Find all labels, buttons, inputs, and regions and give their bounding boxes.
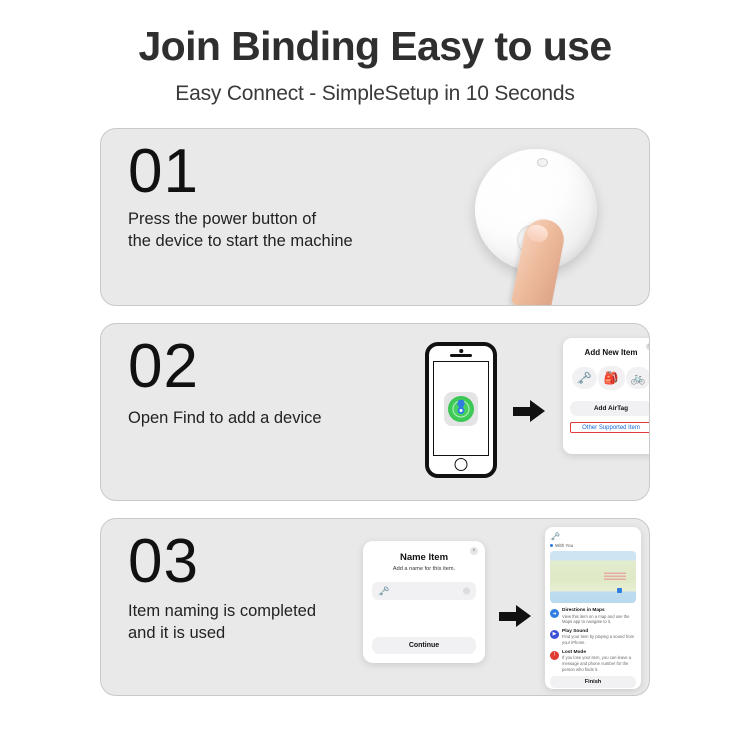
backpack-icon: 🎒 (598, 366, 625, 390)
clear-icon[interactable] (463, 588, 470, 595)
tracker-illustration (461, 137, 631, 305)
location-dot-icon (458, 407, 465, 414)
promo-page: Join Binding Easy to use Easy Connect - … (0, 0, 750, 750)
step-01-number: 01 (128, 139, 353, 204)
dialog-subtitle: Add a name for this item. (372, 566, 476, 572)
page-subtitle: Easy Connect - SimpleSetup in 10 Seconds (0, 82, 750, 106)
camera-icon (459, 349, 463, 353)
step-03-description: Item naming is completed and it is used (128, 600, 316, 645)
step-03-number: 03 (128, 529, 316, 594)
directions-icon: ➜ (550, 609, 559, 618)
item-detail-panel: 🗝️ With You ➜ Directions in Maps (545, 527, 641, 689)
list-item-title: Directions in Maps (562, 608, 636, 613)
map-pin-icon (617, 588, 622, 593)
add-airtag-button[interactable]: Add AirTag (570, 401, 650, 416)
speaker-icon (450, 354, 472, 357)
bicycle-icon: 🚲 (626, 367, 651, 389)
status-dot-icon (550, 544, 553, 547)
list-item-detail: View this item on a map and use the Maps… (562, 614, 636, 625)
list-item[interactable]: ! Lost Mode If you lose your item, you c… (550, 650, 636, 673)
lost-mode-icon: ! (550, 651, 559, 660)
step-card-01: 01 Press the power button of the device … (100, 128, 650, 306)
key-icon: 🗝️ (572, 367, 597, 389)
step-02-number: 02 (128, 334, 322, 399)
keyring-hole-icon (537, 158, 548, 167)
list-item-detail: Find your item by playing a sound from y… (562, 634, 636, 645)
step-03-illustration: × Name Item Add a name for this item. 🗝️… (363, 527, 641, 689)
step-01-text-block: 01 Press the power button of the device … (128, 139, 353, 253)
name-input-row[interactable]: 🗝️ (372, 582, 476, 600)
arrow-right-icon (513, 400, 547, 422)
step-01-description: Press the power button of the device to … (128, 208, 353, 253)
item-status-row: With You (550, 543, 636, 548)
step-card-03: 03 Item naming is completed and it is us… (100, 518, 650, 696)
arrow-right-icon (499, 605, 533, 627)
findmy-icon (448, 396, 474, 422)
phone-screen (433, 361, 489, 456)
close-icon[interactable]: × (646, 343, 650, 350)
steps-list: 01 Press the power button of the device … (0, 128, 750, 696)
home-button-icon (455, 458, 468, 471)
other-supported-item-link[interactable]: Other Supported Item (570, 422, 650, 433)
step-03-text-block: 03 Item naming is completed and it is us… (128, 529, 316, 645)
page-header: Join Binding Easy to use Easy Connect - … (0, 0, 750, 106)
add-new-item-popup: × Add New Item 🗝️ 🎒 🚲 Add AirTag Other S… (563, 338, 650, 454)
close-icon[interactable]: × (470, 547, 478, 555)
map-view[interactable] (550, 551, 636, 603)
name-item-dialog: × Name Item Add a name for this item. 🗝️… (363, 541, 485, 663)
popup-title: Add New Item (570, 348, 650, 357)
continue-button[interactable]: Continue (372, 637, 476, 654)
status-badge: With You (555, 543, 573, 548)
iphone-mockup (425, 342, 497, 478)
list-item-title: Play Sound (562, 629, 636, 634)
key-icon: 🗝️ (550, 532, 560, 541)
step-02-text-block: 02 Open Find to add a device (128, 334, 322, 429)
list-item[interactable]: ▶ Play Sound Find your item by playing a… (550, 629, 636, 646)
list-item-title: Lost Mode (562, 650, 636, 655)
page-title: Join Binding Easy to use (0, 24, 750, 69)
list-item[interactable]: ➜ Directions in Maps View this item on a… (550, 608, 636, 625)
item-icon-group: 🗝️ 🎒 🚲 (570, 366, 650, 390)
key-icon: 🗝️ (378, 586, 389, 597)
list-item-detail: If you lose your item, you can leave a m… (562, 655, 636, 672)
finish-button[interactable]: Finish (550, 676, 636, 688)
step-02-description: Open Find to add a device (128, 407, 322, 429)
step-card-02: 02 Open Find to add a device (100, 323, 650, 501)
step-02-illustration: × Add New Item 🗝️ 🎒 🚲 Add AirTag Other S… (421, 332, 641, 494)
dialog-title: Name Item (372, 552, 476, 563)
play-sound-icon: ▶ (550, 630, 559, 639)
findmy-app-tile[interactable] (444, 392, 478, 426)
action-list: ➜ Directions in Maps View this item on a… (550, 608, 636, 672)
panel-header: 🗝️ (550, 532, 636, 541)
